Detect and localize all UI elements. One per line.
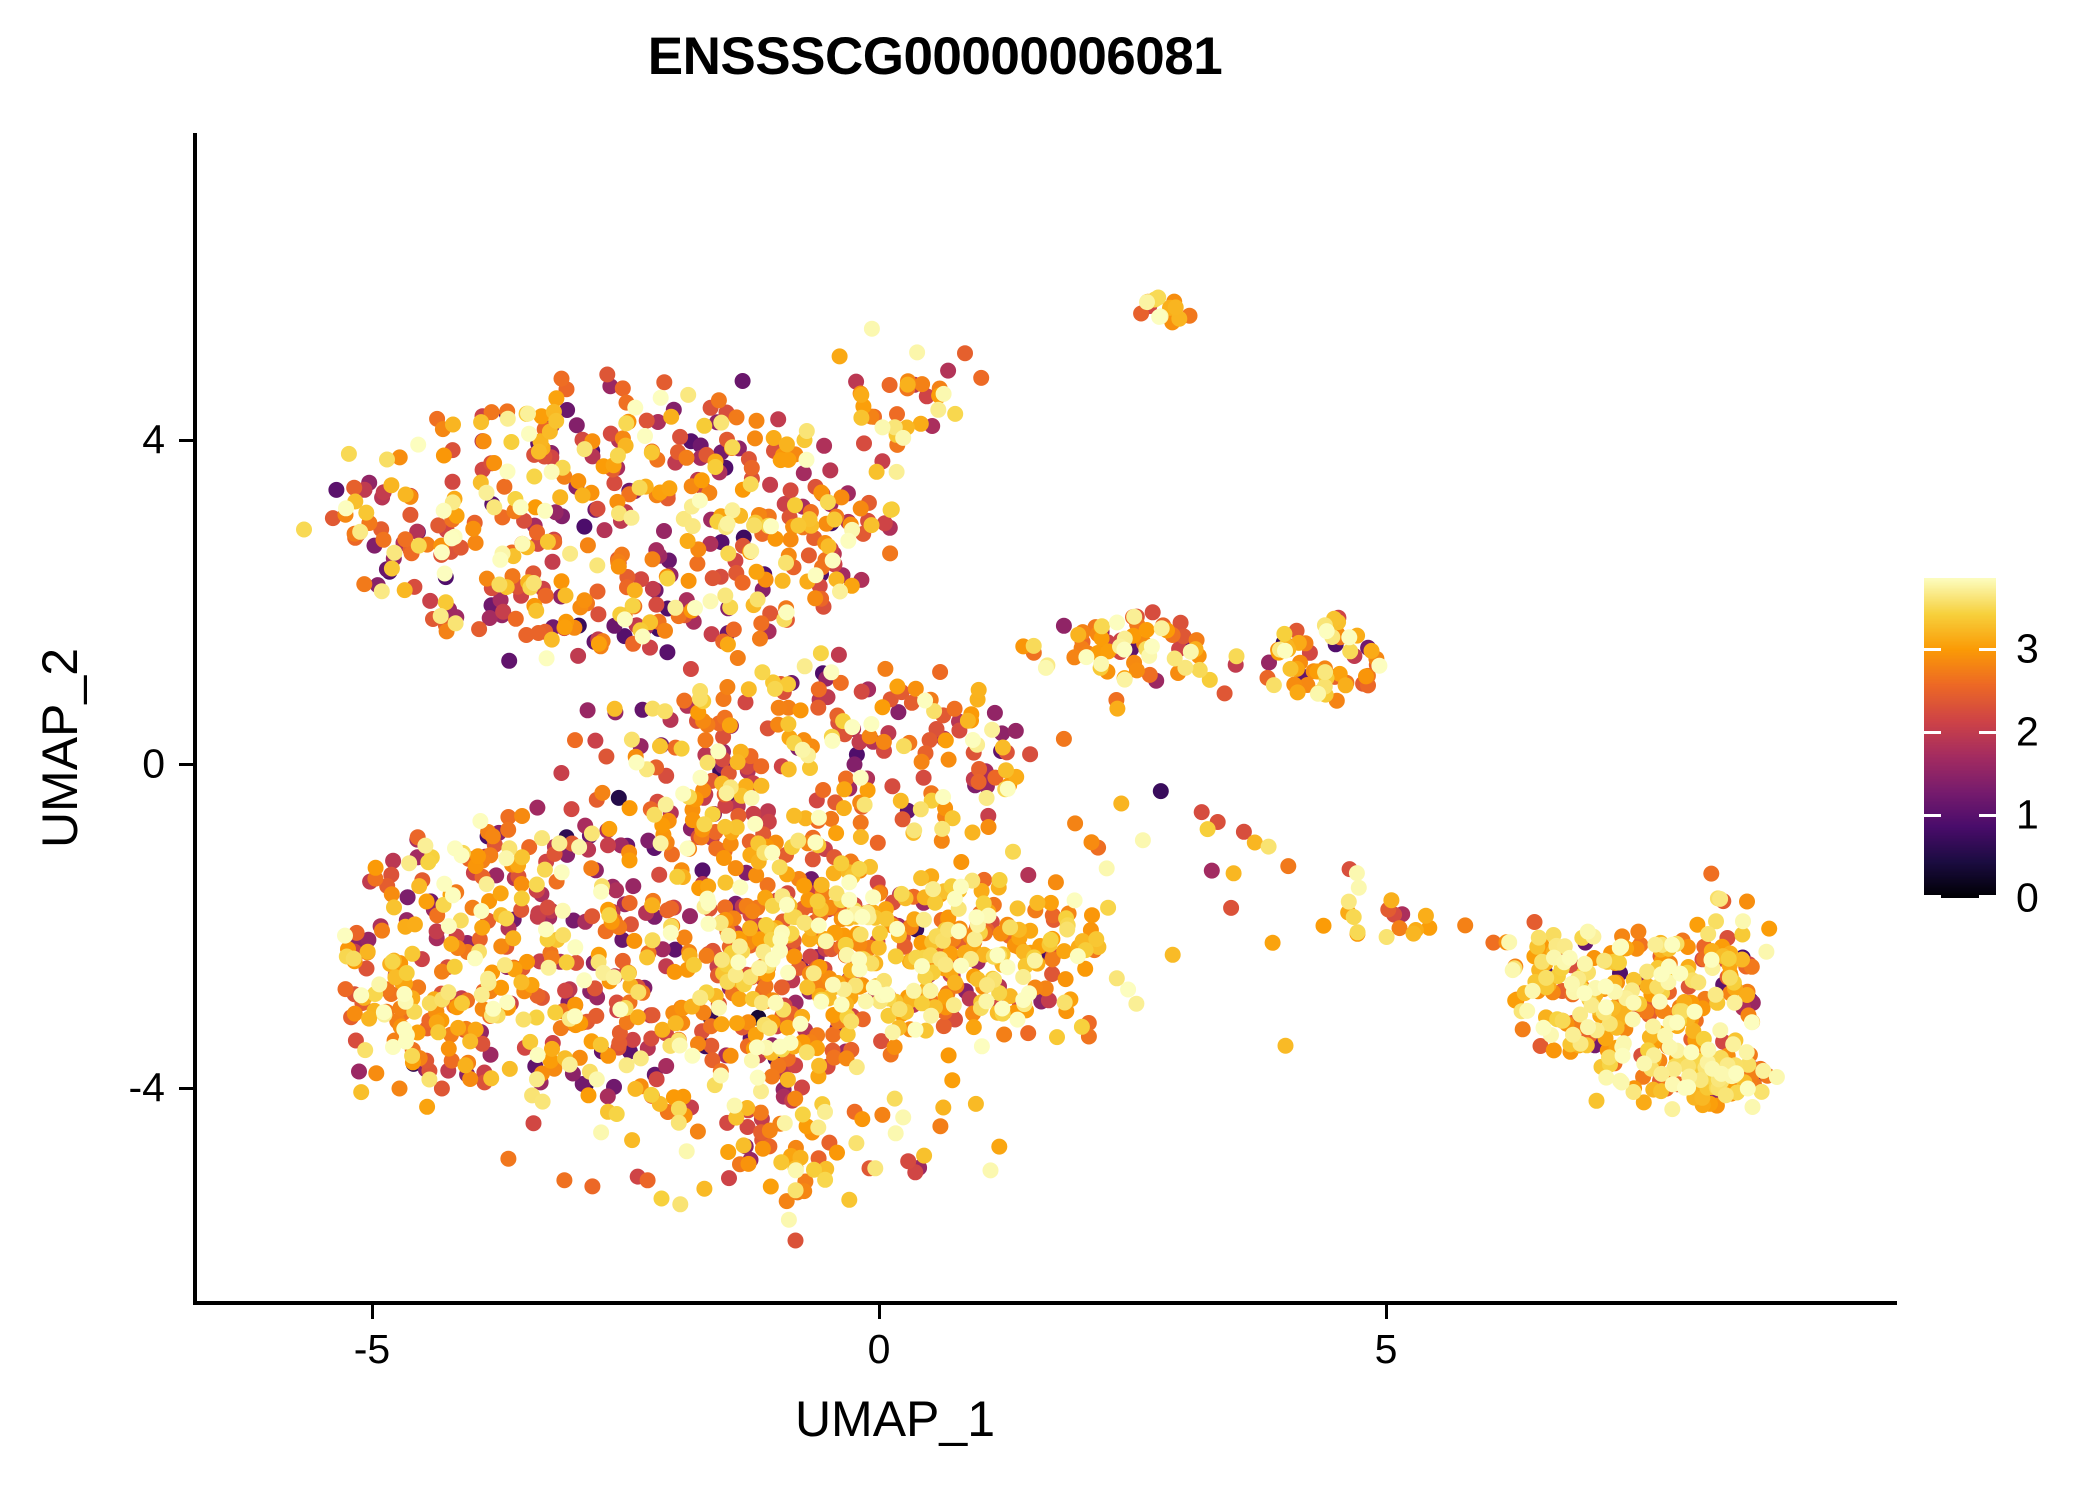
x-axis-label: UMAP_1 — [195, 1390, 1595, 1448]
y-tick-mark — [179, 1087, 193, 1090]
colorbar-tick-mark — [1979, 731, 1996, 734]
colorbar-tick-mark — [1979, 814, 1996, 817]
colorbar-tick-label: 0 — [2016, 875, 2039, 922]
colorbar-tick-label: 2 — [2016, 708, 2039, 755]
x-tick-mark — [371, 1305, 374, 1319]
colorbar-tick-mark — [1924, 731, 1941, 734]
y-tick-label: 4 — [0, 417, 165, 464]
x-tick-mark — [1385, 1305, 1388, 1319]
y-tick-mark — [179, 439, 193, 442]
colorbar-tick-mark — [1924, 814, 1941, 817]
colorbar-tick-mark — [1924, 648, 1941, 651]
colorbar-gradient — [1924, 578, 1996, 898]
page-title: ENSSSCG00000006081 — [0, 26, 1870, 87]
colorbar-tick-mark — [1924, 895, 1941, 898]
umap-feature-plot: ENSSSCG00000006081 40-4 -505 UMAP_2 UMAP… — [0, 0, 2100, 1500]
y-axis-label: UMAP_2 — [31, 498, 89, 998]
y-tick-label: -4 — [0, 1065, 165, 1112]
y-tick-mark — [179, 763, 193, 766]
x-tick-mark — [878, 1305, 881, 1319]
colorbar-tick-mark — [1979, 895, 1996, 898]
colorbar-tick-label: 3 — [2016, 625, 2039, 672]
x-tick-label: 0 — [799, 1326, 959, 1373]
x-tick-label: -5 — [292, 1326, 452, 1373]
y-axis-line — [193, 133, 197, 1305]
colorbar-tick-mark — [1979, 648, 1996, 651]
plot-panel — [195, 135, 1825, 1303]
x-tick-label: 5 — [1306, 1326, 1466, 1373]
x-axis-line — [193, 1301, 1897, 1305]
colorbar-tick-label: 1 — [2016, 791, 2039, 838]
